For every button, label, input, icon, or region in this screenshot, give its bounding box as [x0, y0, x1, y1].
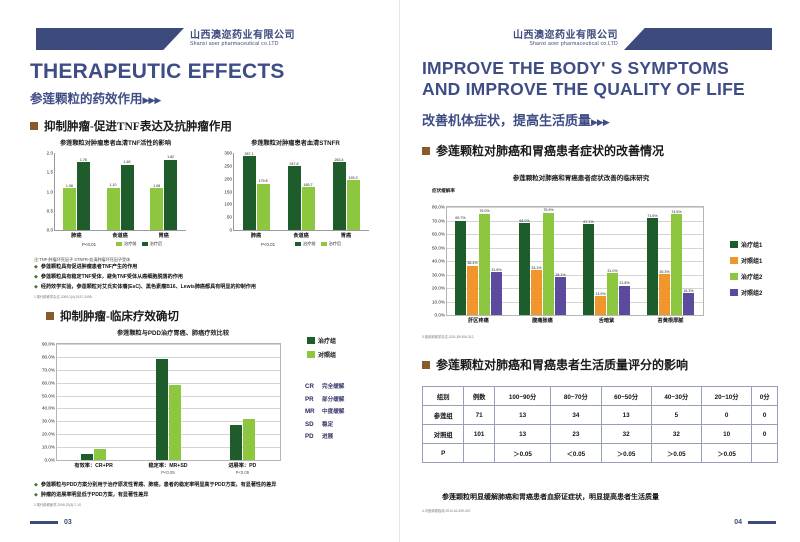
x-axis-tick: 食道癌 — [293, 232, 309, 239]
table-cell: ＞0.05 — [702, 444, 752, 463]
brand-name-en: Shanxi aoer pharmaceutical co.LTD — [513, 42, 618, 47]
reference-1: 3.临床肿瘤学杂志,2011,89:306-312. — [422, 334, 474, 339]
bar-value-label: 165.7 — [304, 183, 313, 187]
bar: 31.6% — [491, 272, 502, 315]
bar-group: 71.6%30.3%74.5%16.3%苔黄根厚腻 — [647, 207, 694, 315]
abbreviation-value: 部分缓解 — [322, 395, 344, 403]
legend-swatch — [295, 242, 301, 246]
table-cell: 参莲组 — [423, 406, 464, 425]
plot-area: 050100150200250300287.1179.8肺癌247.6165.7… — [233, 153, 369, 231]
bar: 1.76 — [77, 162, 90, 230]
bar: 16.3% — [683, 293, 694, 315]
bar: 75.0% — [479, 214, 490, 315]
table-cell: ＞0.05 — [494, 444, 550, 463]
conclusion-text: 参莲颗粒明显缓解肺癌和胃癌患者血瘀证症状，明显提高患者生活质量 — [442, 492, 659, 502]
legend-label: 对照组2 — [741, 288, 762, 297]
y-axis-tick: 50.0% — [432, 245, 445, 250]
y-axis-tick: 90.0% — [42, 342, 55, 347]
bullet-item: ◆肿瘤的进展率明显低于PDD方案，有显著性差异 — [34, 491, 386, 501]
abbreviation-key: CR — [305, 383, 318, 390]
x-axis-note: P<0.05 — [161, 470, 174, 475]
y-axis-tick: 30.0% — [432, 272, 445, 277]
bar-group: 68.0%33.1%75.9%28.1%腹痛胀痛 — [519, 207, 566, 315]
subtitle-text: 改善机体症状，提高生活质量 — [422, 113, 591, 128]
section-heading-1-text: 参莲颗粒对肺癌和胃癌患者症状的改善情况 — [436, 142, 664, 159]
x-axis-tick: 食道癌 — [112, 232, 128, 239]
table-cell: ＜0.05 — [551, 444, 601, 463]
page-subtitle-left: 参莲颗粒的药效作用▶▶▶ — [30, 88, 160, 107]
bar: 28.1% — [555, 277, 566, 315]
y-axis-tick: 40.0% — [432, 259, 445, 264]
abbreviation-key: MR — [305, 408, 318, 415]
bullet-item: ◆参莲颗粒具有促进肿瘤患者TNF产生的作用 — [34, 263, 384, 273]
bullet-dot-icon: ◆ — [34, 273, 38, 283]
y-axis-label: 症状缓解率 — [432, 188, 455, 194]
bar-value-label: 69.7% — [455, 216, 465, 220]
legend-label: 治疗组1 — [741, 240, 762, 249]
table-column-header: 40~30分 — [651, 387, 701, 406]
table-row: 参莲组71133413500 — [423, 406, 778, 425]
bar-value-label: 1.69 — [124, 160, 131, 164]
bar-value-label: 179.8 — [259, 179, 268, 183]
bar: 1.08 — [63, 188, 76, 230]
x-axis-tick: 舌暗紫 — [599, 317, 615, 324]
square-bullet-icon — [422, 147, 430, 155]
bar: 1.10 — [107, 188, 120, 230]
p-value-label: P<0.01 — [82, 242, 96, 247]
bar-value-label: 28.1% — [555, 273, 565, 277]
abbreviation-legend: CR完全缓解PR部分缓解MR中度缓解SD稳定PD进展 — [305, 382, 344, 440]
page-title-right: IMPROVE THE BODY' S SYMPTOMS AND IMPROVE… — [422, 58, 745, 101]
bar — [94, 449, 106, 460]
table-cell — [752, 444, 778, 463]
chart-stnfr: 参莲颗粒对肿瘤患者血清STNFR 050100150200250300287.1… — [213, 138, 378, 231]
legend-item: 治疗前 — [116, 241, 137, 247]
chart-legend-pdd: 治疗组对照组 — [307, 336, 336, 359]
abbreviation-value: 进展 — [322, 432, 333, 440]
page-title-left: THERAPEUTIC EFFECTS — [30, 60, 285, 84]
bar-value-label: 67.1% — [583, 220, 593, 224]
section-heading-1-text: 抑制肿瘤-促进TNF表达及抗肿瘤作用 — [44, 118, 232, 134]
arrow-icon: ▶▶▶ — [591, 117, 609, 127]
bullet-item: ◆参莲颗粒具有稳定TNF受体，避免TNF受体从癌细胞脱落的作用 — [34, 273, 384, 283]
reference-2: 2.现代肿瘤医学,2006,22(5):7-10. — [34, 502, 386, 507]
chart-symptom-improvement: 参莲颗粒对肺癌和胃癌患者症状改善的临床研究 症状缓解率 0.0%10.0%20.… — [418, 172, 718, 316]
bar: 1.69 — [121, 165, 134, 230]
section-heading-2: 抑制肿瘤-临床疗效确切 — [46, 308, 179, 324]
table-cell: 0 — [752, 406, 778, 425]
legend-item: 对照组1 — [730, 256, 762, 265]
page-subtitle-right: 改善机体症状，提高生活质量▶▶▶ — [422, 110, 609, 129]
page-title-line-2: AND IMPROVE THE QUALITY OF LIFE — [422, 79, 745, 100]
chart-note: 注:TNF-肿瘤坏死因子 STNFR-血清肿瘤坏死因子受体 — [34, 256, 384, 263]
bar: 31.0% — [607, 273, 618, 315]
bar-group: 247.6165.7食道癌 — [288, 153, 315, 230]
chart-tnf-activity: 参莲颗粒对肿瘤患者血清TNF活性的影响 0.00.51.01.52.01.081… — [38, 138, 193, 231]
table-cell: 5 — [651, 406, 701, 425]
abbreviation-key: PD — [305, 433, 318, 440]
legend-label: 治疗前 — [303, 241, 316, 247]
legend-swatch — [116, 242, 122, 246]
y-axis-tick: 2.0 — [47, 151, 53, 156]
bullet-dot-icon: ◆ — [34, 263, 38, 273]
bar-value-label: 1.08 — [66, 184, 73, 188]
footer-right: 04 — [734, 519, 776, 526]
plot-area: 0.00.51.01.52.01.081.76肺癌1.101.69食道癌1.08… — [54, 153, 186, 231]
bullet-text: 肿瘤的进展率明显低于PDD方案，有显著性差异 — [41, 491, 149, 501]
table-cell: ＞0.05 — [601, 444, 651, 463]
bar-value-label: 36.4% — [467, 261, 477, 265]
square-bullet-icon — [46, 312, 54, 320]
legend-item: 治疗前 — [295, 241, 316, 247]
table-column-header: 100~90分 — [494, 387, 550, 406]
abbreviation-value: 中度缓解 — [322, 407, 344, 415]
y-axis-tick: 60.0% — [432, 232, 445, 237]
legend-swatch — [142, 242, 148, 246]
table-cell: 71 — [464, 406, 495, 425]
bar-value-label: 193.3 — [349, 176, 358, 180]
legend-swatch — [307, 351, 315, 358]
bar: 263.4 — [333, 162, 346, 230]
bar: 1.82 — [164, 160, 177, 230]
table-cell: 32 — [651, 425, 701, 444]
page-number: 03 — [64, 519, 72, 526]
bar: 165.7 — [302, 187, 315, 230]
bar: 21.8% — [619, 286, 630, 315]
bar-value-label: 287.1 — [245, 152, 254, 156]
y-axis-tick: 40.0% — [42, 406, 55, 411]
p-value-label: P<0.01 — [261, 242, 275, 247]
header-left: 山西澳迩药业有限公司 Shanxi aoer pharmaceutical co… — [36, 28, 301, 50]
x-axis-note: P<0.05 — [236, 470, 249, 475]
y-axis-tick: 250 — [224, 163, 232, 168]
table-cell: P — [423, 444, 464, 463]
brand-block: 山西澳迩药业有限公司 Shanxi aoer pharmaceutical co… — [184, 31, 301, 47]
y-axis-tick: 1.0 — [47, 189, 53, 194]
bullet-text: 参莲颗粒具有促进肿瘤患者TNF产生的作用 — [41, 263, 138, 273]
bar: 13.9% — [595, 296, 606, 315]
table-row: P＞0.05＜0.05＞0.05＞0.05＞0.05 — [423, 444, 778, 463]
legend-item: 治疗后 — [142, 241, 163, 247]
y-axis-tick: 10.0% — [42, 445, 55, 450]
table-cell: 13 — [494, 406, 550, 425]
brand-block: 山西澳迩药业有限公司 Shanxi aoer pharmaceutical co… — [507, 31, 624, 47]
table-cell: 0 — [702, 406, 752, 425]
bar-group: 1.081.76肺癌 — [63, 153, 90, 230]
square-bullet-icon — [422, 361, 430, 369]
legend-item: 治疗组2 — [730, 272, 762, 281]
abbreviation-key: SD — [305, 421, 318, 428]
table-cell: 13 — [601, 406, 651, 425]
legend-label: 对照组1 — [741, 256, 762, 265]
y-axis-tick: 100 — [224, 202, 232, 207]
bar-value-label: 30.3% — [659, 270, 669, 274]
bar-value-label: 13.9% — [595, 292, 605, 296]
bar: 193.3 — [347, 180, 360, 230]
plot-area: 0.0%10.0%20.0%30.0%40.0%50.0%60.0%70.0%8… — [446, 206, 704, 316]
section-heading-2-text: 参莲颗粒对肺癌和胃癌患者生活质量评分的影响 — [436, 356, 688, 373]
bar — [243, 419, 255, 460]
footer-rule — [748, 521, 776, 524]
bar: 67.1% — [583, 224, 594, 315]
subtitle-text: 参莲颗粒的药效作用 — [30, 92, 143, 106]
bar-value-label: 74.5% — [671, 210, 681, 214]
y-axis-tick: 80.0% — [42, 354, 55, 359]
bar-value-label: 68.0% — [519, 219, 529, 223]
y-axis-tick: 0.0% — [435, 313, 445, 318]
legend-item: 治疗组 — [307, 336, 336, 345]
bullet-group-2: ◆参莲颗粒与PDD方案分别用于治疗原发性胃癌、肺癌，患者的稳定率明显高于PDD方… — [34, 481, 386, 507]
y-axis-tick: 70.0% — [432, 218, 445, 223]
bar — [169, 385, 181, 460]
bar-group: 69.7%36.4%75.0%31.6%肝区疼痛 — [455, 207, 502, 315]
bar-value-label: 1.82 — [167, 155, 174, 159]
bar-group: 67.1%13.9%31.0%21.8%舌暗紫 — [583, 207, 630, 315]
y-axis-tick: 80.0% — [432, 205, 445, 210]
brand-name-cn: 山西澳迩药业有限公司 — [513, 31, 618, 42]
x-axis-tick: 有效率：CR+PR — [74, 462, 112, 469]
chart-pdd-efficacy: 参莲颗粒与PDD治疗胃癌、肺癌疗效比较 0.0%10.0%20.0%30.0%4… — [18, 328, 288, 461]
bar: 36.4% — [467, 266, 478, 315]
bar: 74.5% — [671, 214, 682, 315]
bar: 1.08 — [150, 188, 163, 230]
y-axis-tick: 30.0% — [42, 419, 55, 424]
page-number: 04 — [734, 519, 742, 526]
brochure-spread: 山西澳迩药业有限公司 Shanxi aoer pharmaceutical co… — [0, 0, 800, 542]
x-axis-tick: 苔黄根厚腻 — [658, 317, 684, 324]
legend-label: 治疗组 — [318, 336, 336, 345]
bullet-text: 参莲颗粒具有稳定TNF受体，避免TNF受体从癌细胞脱落的作用 — [41, 273, 183, 283]
y-axis-tick: 0.0% — [45, 458, 55, 463]
legend-item: 治疗后 — [321, 241, 342, 247]
x-axis-tick: 腹痛胀痛 — [532, 317, 553, 324]
bullet-group-1: 注:TNF-肿瘤坏死因子 STNFR-血清肿瘤坏死因子受体 ◆参莲颗粒具有促进肿… — [34, 256, 384, 299]
legend-swatch — [321, 242, 327, 246]
bar — [156, 359, 168, 460]
y-axis-tick: 50.0% — [42, 393, 55, 398]
table-column-header: 0分 — [752, 387, 778, 406]
table-column-header: 组别 — [423, 387, 464, 406]
bullet-dot-icon: ◆ — [34, 491, 38, 501]
legend-swatch — [730, 289, 738, 296]
bullet-dot-icon: ◆ — [34, 283, 38, 293]
legend-label: 治疗后 — [150, 241, 163, 247]
bar-group: 1.081.82胃癌 — [150, 153, 177, 230]
bar: 75.9% — [543, 213, 554, 315]
y-axis-tick: 70.0% — [42, 367, 55, 372]
bar-value-label: 31.0% — [607, 269, 617, 273]
legend-swatch — [730, 257, 738, 264]
square-bullet-icon — [30, 122, 38, 130]
section-heading-1: 参莲颗粒对肺癌和胃癌患者症状的改善情况 — [422, 142, 664, 159]
section-heading-1: 抑制肿瘤-促进TNF表达及抗肿瘤作用 — [30, 118, 232, 134]
bar: 69.7% — [455, 221, 466, 315]
bullet-item: ◆参莲颗粒与PDD方案分别用于治疗原发性胃癌、肺癌，患者的稳定率明显高于PDD方… — [34, 481, 386, 491]
bar: 287.1 — [243, 156, 256, 230]
chart-title: 参莲颗粒对肺癌和胃癌患者症状改善的临床研究 — [444, 172, 718, 182]
bar: 68.0% — [519, 223, 530, 315]
ribbon-shape — [624, 28, 772, 50]
qol-score-table: 组别例数100~90分80~70分60~50分40~30分20~10分0分参莲组… — [422, 386, 778, 463]
bullet-item: ◆经药效学实验，参莲颗粒对艾氏实体瘤(EsC)、黑色素瘤B16、Lewis肺癌都… — [34, 283, 384, 293]
legend-label: 对照组 — [318, 350, 336, 359]
bar: 33.1% — [531, 270, 542, 315]
table-row: 对照组10113233232100 — [423, 425, 778, 444]
table-cell — [464, 444, 495, 463]
table-cell: ＞0.05 — [651, 444, 701, 463]
legend-item: 对照组 — [307, 350, 336, 359]
legend-label: 治疗组2 — [741, 272, 762, 281]
chart-title: 参莲颗粒对肿瘤患者血清TNF活性的影响 — [38, 138, 193, 147]
chart-legend-symptom: 治疗组1对照组1治疗组2对照组2 — [730, 240, 762, 297]
x-axis-tick: 肺癌 — [71, 232, 81, 239]
ribbon-shape — [36, 28, 184, 50]
reference-1: 1.现代肿瘤学杂志,2006,2(4):2437-2495. — [34, 294, 384, 299]
footer-rule — [30, 521, 58, 524]
plot-area: 0.0%10.0%20.0%30.0%40.0%50.0%60.0%70.0%8… — [56, 343, 281, 461]
table-cell: 10 — [702, 425, 752, 444]
bullet-text: 经药效学实验，参莲颗粒对艾氏实体瘤(EsC)、黑色素瘤B16、Lewis肺癌都具… — [41, 283, 256, 293]
chart-title: 参莲颗粒对肿瘤患者血清STNFR — [213, 138, 378, 147]
bar: 71.6% — [647, 218, 658, 315]
bar: 30.3% — [659, 274, 670, 315]
abbreviation-row: PR部分缓解 — [305, 395, 344, 403]
x-axis-tick: 胃癌 — [341, 232, 351, 239]
chart-legend: 治疗前治疗后 — [295, 241, 341, 247]
abbreviation-value: 稳定 — [322, 420, 333, 428]
bar-group: 稳定率：MR+SDP<0.05 — [156, 344, 181, 460]
section-heading-2: 参莲颗粒对肺癌和胃癌患者生活质量评分的影响 — [422, 356, 688, 373]
y-axis-tick: 0 — [229, 228, 232, 233]
footer-left: 03 — [30, 519, 72, 526]
bar-group: 263.4193.3胃癌 — [333, 153, 360, 230]
table-column-header: 例数 — [464, 387, 495, 406]
arrow-icon: ▶▶▶ — [143, 95, 161, 105]
legend-label: 治疗前 — [124, 241, 137, 247]
brand-name-cn: 山西澳迩药业有限公司 — [190, 31, 295, 42]
y-axis-tick: 0.0 — [47, 228, 53, 233]
bar — [230, 425, 242, 460]
chart-legend: 治疗前治疗后 — [116, 241, 162, 247]
abbreviation-row: MR中度缓解 — [305, 407, 344, 415]
table-cell: 13 — [494, 425, 550, 444]
bar-group: 287.1179.8肺癌 — [243, 153, 270, 230]
y-axis-tick: 0.5 — [47, 208, 53, 213]
legend-item: 对照组2 — [730, 288, 762, 297]
legend-swatch — [730, 241, 738, 248]
bar-value-label: 33.1% — [531, 266, 541, 270]
legend-item: 治疗组1 — [730, 240, 762, 249]
bar-group: 进展率：PDP<0.05 — [230, 344, 255, 460]
table-cell: 101 — [464, 425, 495, 444]
bar-group: 1.101.69食道癌 — [107, 153, 134, 230]
table-cell: 32 — [601, 425, 651, 444]
bar-group: 有效率：CR+PR — [81, 344, 106, 460]
y-axis-tick: 20.0% — [42, 432, 55, 437]
abbreviation-key: PR — [305, 396, 318, 403]
bar-value-label: 71.6% — [647, 214, 657, 218]
page-right: 山西澳迩药业有限公司 Shanxi aoer pharmaceutical co… — [400, 0, 800, 542]
table-cell: 34 — [551, 406, 601, 425]
y-axis-tick: 200 — [224, 176, 232, 181]
legend-label: 治疗后 — [329, 241, 342, 247]
bar — [81, 454, 93, 460]
chart-title: 参莲颗粒与PDD治疗胃癌、肺癌疗效比较 — [58, 328, 288, 337]
table-cell: 0 — [752, 425, 778, 444]
x-axis-tick: 进展率：PD — [228, 462, 256, 469]
table-cell: 23 — [551, 425, 601, 444]
bar-value-label: 31.6% — [491, 268, 501, 272]
y-axis-tick: 1.5 — [47, 170, 53, 175]
x-axis-tick: 肺癌 — [251, 232, 261, 239]
bar-value-label: 75.0% — [479, 209, 489, 213]
brand-name-en: Shanxi aoer pharmaceutical co.LTD — [190, 42, 295, 47]
page-title-line-1: IMPROVE THE BODY' S SYMPTOMS — [422, 58, 745, 79]
y-axis-tick: 50 — [227, 215, 232, 220]
bar-value-label: 75.9% — [543, 208, 553, 212]
bar-value-label: 1.08 — [153, 184, 160, 188]
bar: 247.6 — [288, 166, 301, 230]
bar-value-label: 1.10 — [110, 183, 117, 187]
bar-value-label: 21.8% — [619, 281, 629, 285]
bar: 179.8 — [257, 184, 270, 230]
x-axis-tick: 胃癌 — [158, 232, 168, 239]
x-axis-tick: 稳定率：MR+SD — [148, 462, 187, 469]
y-axis-tick: 20.0% — [432, 286, 445, 291]
table-cell: 对照组 — [423, 425, 464, 444]
bullet-text: 参莲颗粒与PDD方案分别用于治疗原发性胃癌、肺癌，患者的稳定率明显高于PDD方案… — [41, 481, 276, 491]
bar-value-label: 1.76 — [80, 158, 87, 162]
abbreviation-value: 完全缓解 — [322, 382, 344, 390]
legend-swatch — [730, 273, 738, 280]
y-axis-tick: 150 — [224, 189, 232, 194]
bar-value-label: 16.3% — [683, 289, 693, 293]
reference-2: 4.中医肿瘤临床,2010,16,339-347. — [422, 508, 471, 513]
table-column-header: 20~10分 — [702, 387, 752, 406]
abbreviation-row: PD进展 — [305, 432, 344, 440]
section-heading-2-text: 抑制肿瘤-临床疗效确切 — [60, 308, 179, 324]
header-right: 山西澳迩药业有限公司 Shanxi aoer pharmaceutical co… — [507, 28, 772, 50]
y-axis-tick: 60.0% — [42, 380, 55, 385]
bullet-dot-icon: ◆ — [34, 481, 38, 491]
bar-value-label: 247.6 — [290, 162, 299, 166]
page-left: 山西澳迩药业有限公司 Shanxi aoer pharmaceutical co… — [0, 0, 400, 542]
bar-value-label: 263.4 — [335, 158, 344, 162]
abbreviation-row: SD稳定 — [305, 420, 344, 428]
table-header-row: 组别例数100~90分80~70分60~50分40~30分20~10分0分 — [423, 387, 778, 406]
y-axis-tick: 300 — [224, 151, 232, 156]
legend-swatch — [307, 337, 315, 344]
x-axis-tick: 肝区疼痛 — [468, 317, 489, 324]
y-axis-tick: 10.0% — [432, 299, 445, 304]
table-column-header: 80~70分 — [551, 387, 601, 406]
abbreviation-row: CR完全缓解 — [305, 382, 344, 390]
table-column-header: 60~50分 — [601, 387, 651, 406]
